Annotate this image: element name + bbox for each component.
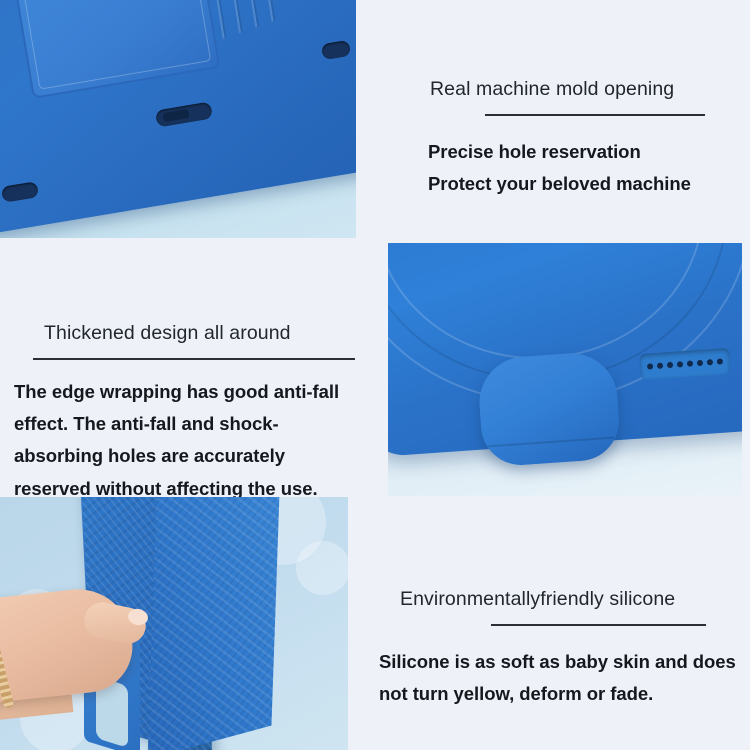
photo-corner-bumper-closeup bbox=[388, 243, 742, 496]
feature-title: Thickened design all around bbox=[44, 322, 360, 345]
feature-body: Silicone is as soft as baby skin and doe… bbox=[379, 646, 739, 710]
feature-block-thickened-design: Thickened design all around The edge wra… bbox=[0, 322, 360, 505]
title-divider-rule bbox=[33, 358, 355, 360]
feature-body: The edge wrapping has good anti-fall eff… bbox=[14, 376, 358, 505]
feature-body-line-1: Precise hole reservation bbox=[428, 136, 728, 168]
corner-bumper bbox=[476, 350, 621, 467]
title-divider-rule bbox=[491, 624, 706, 626]
bokeh-circle bbox=[296, 541, 348, 595]
feature-block-mold-opening: Real machine mold opening Precise hole r… bbox=[388, 78, 728, 200]
photo-hand-flexing-case bbox=[0, 497, 348, 750]
feature-title: Environmentallyfriendly silicone bbox=[400, 588, 740, 611]
bumper-seam bbox=[488, 437, 614, 448]
feature-block-eco-silicone: Environmentallyfriendly silicone Silicon… bbox=[388, 588, 740, 710]
title-divider-rule bbox=[485, 114, 705, 116]
photo-case-back-ports bbox=[0, 0, 356, 238]
product-feature-page: Real machine mold opening Precise hole r… bbox=[0, 0, 750, 750]
case-texture-pattern bbox=[148, 497, 281, 750]
case-folded-panel-right bbox=[148, 497, 281, 750]
feature-title: Real machine mold opening bbox=[430, 78, 728, 101]
feature-body: Precise hole reservation Protect your be… bbox=[428, 136, 728, 200]
feature-body-line-2: Protect your beloved machine bbox=[428, 168, 728, 200]
